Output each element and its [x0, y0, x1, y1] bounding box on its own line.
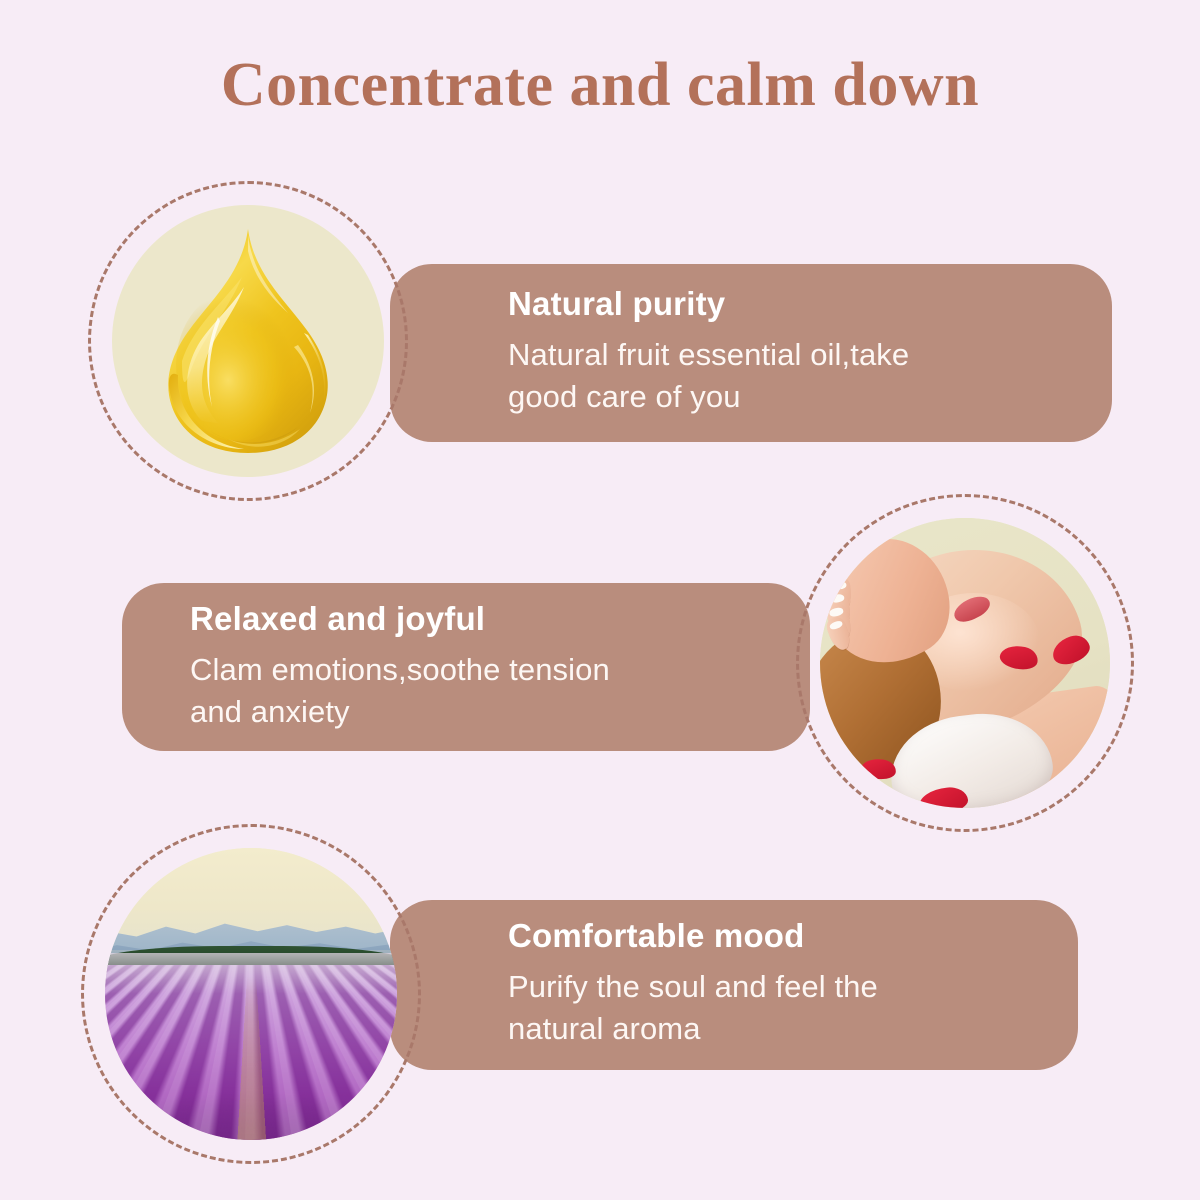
feature-panel-comfortable-mood: Comfortable mood Purify the soul and fee… [390, 900, 1078, 1070]
feature-text-block: Natural purity Natural fruit essential o… [508, 286, 1108, 418]
feature-body-line-1: Purify the soul and feel the [508, 966, 1068, 1008]
feature-body-line-1: Natural fruit essential oil,take [508, 334, 1108, 376]
feature-body-line-2: and anxiety [190, 691, 790, 733]
feature-text-block: Comfortable mood Purify the soul and fee… [508, 918, 1068, 1050]
fingernail-shape [832, 581, 846, 590]
droplet-icon [158, 225, 338, 457]
feature-heading: Relaxed and joyful [190, 601, 790, 637]
lavender-field-image [105, 848, 397, 1140]
feature-text-block: Relaxed and joyful Clam emotions,soothe … [190, 601, 790, 733]
fingernail-shape [828, 620, 843, 631]
page-title: Concentrate and calm down [0, 50, 1200, 121]
horizon-haze [105, 953, 397, 994]
feature-body-line-1: Clam emotions,soothe tension [190, 649, 790, 691]
oil-droplet-image [112, 205, 384, 477]
facial-massage-image [820, 518, 1110, 808]
feature-panel-natural-purity: Natural purity Natural fruit essential o… [390, 264, 1112, 442]
fingernail-shape [830, 593, 845, 603]
feature-heading: Comfortable mood [508, 918, 1068, 954]
feature-panel-relaxed-and-joyful: Relaxed and joyful Clam emotions,soothe … [122, 583, 810, 751]
feature-body-line-2: natural aroma [508, 1008, 1068, 1050]
feature-body-line-2: good care of you [508, 376, 1108, 418]
infographic-poster: Concentrate and calm down Natural purity… [0, 0, 1200, 1200]
feature-heading: Natural purity [508, 286, 1108, 322]
oil-droplet-graphic [158, 225, 338, 457]
